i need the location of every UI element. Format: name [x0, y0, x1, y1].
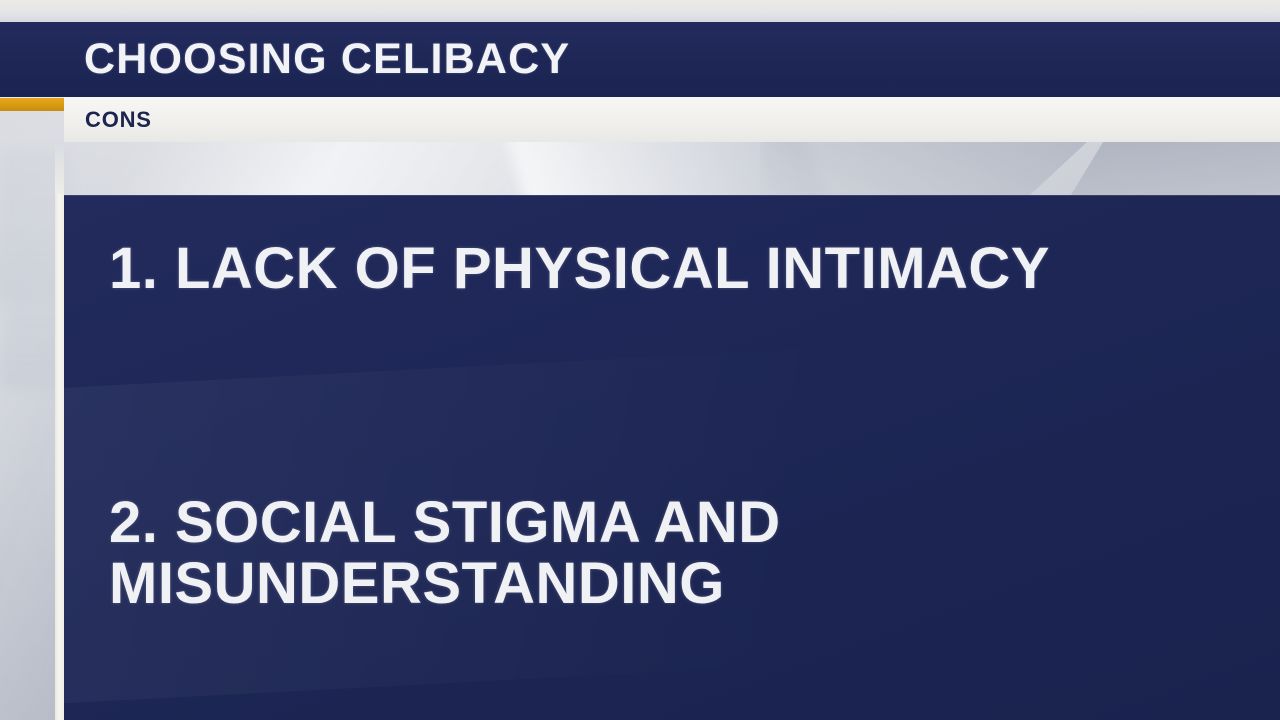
- content-panel: 1. LACK OF PHYSICAL INTIMACY 2. SOCIAL S…: [64, 195, 1280, 720]
- list-item: 2. SOCIAL STIGMA AND MISUNDERSTANDING: [109, 492, 781, 615]
- headline-text: CHOOSING CELIBACY: [84, 38, 570, 81]
- gold-accent-bar: [0, 98, 64, 111]
- left-vertical-rail-cap: [55, 142, 64, 194]
- broadcast-graphic-screen: CHOOSING CELIBACY CONS 1. LACK OF PHYSIC…: [0, 0, 1280, 720]
- subheadline-banner: CONS: [64, 97, 1280, 142]
- headline-banner: CHOOSING CELIBACY: [0, 22, 1280, 97]
- subheadline-text: CONS: [85, 109, 152, 131]
- left-vertical-rail: [55, 142, 64, 720]
- top-edge-strip: [0, 0, 1280, 22]
- list-item: 1. LACK OF PHYSICAL INTIMACY: [109, 238, 1050, 299]
